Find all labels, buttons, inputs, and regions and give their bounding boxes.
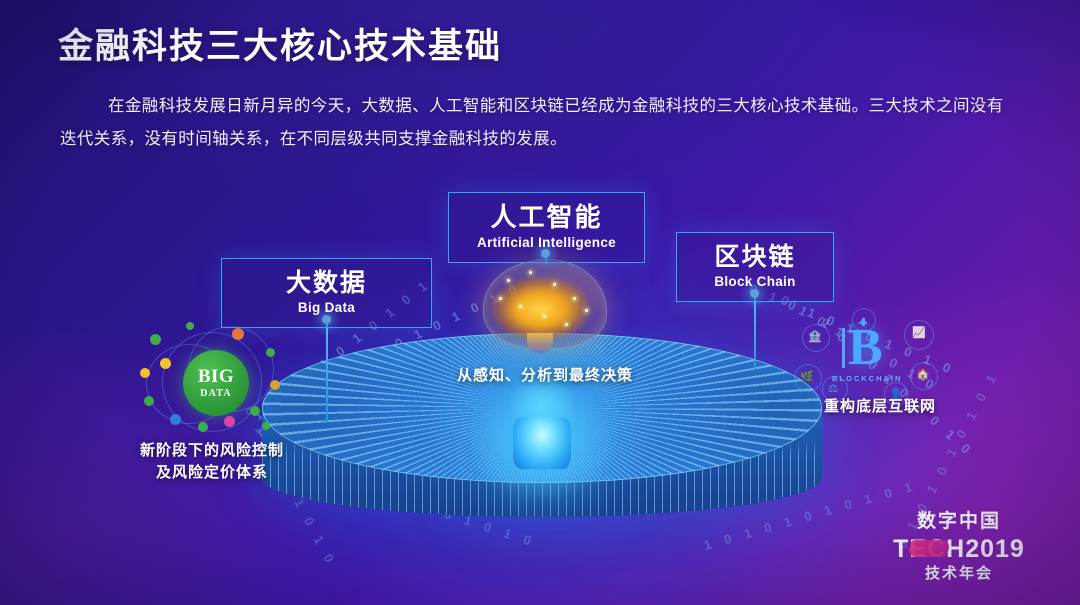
caption-ai: 从感知、分析到最终决策: [420, 365, 670, 387]
card-block-chain[interactable]: 区块链 Block Chain: [676, 232, 834, 302]
page-title: 金融科技三大核心技术基础: [58, 18, 502, 69]
node-icon: [266, 348, 275, 357]
home-icon: 🏠: [916, 368, 930, 381]
node-icon: [150, 334, 161, 345]
connector-line-blockchain: [754, 292, 756, 370]
intro-paragraph: 在金融科技发展日新月异的今天，大数据、人工智能和区块链已经成为金融科技的三大核心…: [60, 90, 1020, 156]
card-big-data-subtitle: Big Data: [240, 300, 413, 315]
node-icon: [198, 422, 208, 432]
bitcoin-symbol: B: [848, 322, 883, 374]
brain-stem: [527, 333, 553, 353]
scale-icon: ⚖: [828, 382, 838, 395]
node-icon: [270, 380, 280, 390]
node-icon: [250, 406, 260, 416]
logo-line-3: 技术年会: [874, 562, 1044, 583]
bigdata-badge: BIG DATA: [183, 350, 249, 416]
caption-block-chain: 重构底层互联网: [800, 396, 960, 418]
blockchain-label: BLOCKCHAIN: [832, 374, 902, 383]
node-icon: [262, 422, 270, 430]
leaf-icon: 🌿: [800, 370, 814, 383]
caption-big-data-line2: 及风险定价体系: [112, 462, 312, 484]
card-ai-title: 人工智能: [467, 203, 626, 232]
logo-line-2: TECH2019: [893, 536, 1025, 564]
card-artificial-intelligence[interactable]: 人工智能 Artificial Intelligence: [448, 192, 645, 263]
node-icon: [140, 368, 150, 378]
card-ai-subtitle: Artificial Intelligence: [467, 235, 626, 250]
node-icon: [160, 358, 171, 369]
node-icon: [144, 396, 154, 406]
logo-line-1: 数字中国: [874, 510, 1044, 534]
card-big-data-title: 大数据: [240, 269, 413, 297]
connector-line-bigdata: [326, 318, 328, 423]
slide-canvas: 1 0 1 0 1 0 1 0 1 0 1 0 1 0 1 0 1 0 1 0 …: [0, 0, 1080, 605]
logo-swoosh-icon: [906, 540, 952, 557]
caption-big-data: 新阶段下的风险控制 及风险定价体系: [112, 440, 312, 484]
bigdata-illustration: BIG DATA: [136, 322, 286, 440]
event-logo: 数字中国 TECH2019 技术年会: [874, 510, 1044, 583]
chart-icon: 📈: [912, 326, 926, 339]
core-node: [513, 417, 571, 469]
card-block-chain-title: 区块链: [695, 243, 815, 271]
card-big-data[interactable]: 大数据 Big Data: [221, 258, 432, 328]
brain-illustration: [477, 253, 613, 357]
node-icon: [232, 328, 244, 340]
card-block-chain-subtitle: Block Chain: [695, 274, 815, 289]
node-icon: [170, 414, 181, 425]
bank-icon: 🏦: [808, 330, 822, 343]
node-icon: [224, 416, 235, 427]
bigdata-badge-big: BIG: [198, 367, 234, 386]
bigdata-badge-data: DATA: [200, 388, 232, 399]
caption-big-data-line1: 新阶段下的风险控制: [112, 440, 312, 462]
node-icon: [186, 322, 194, 330]
